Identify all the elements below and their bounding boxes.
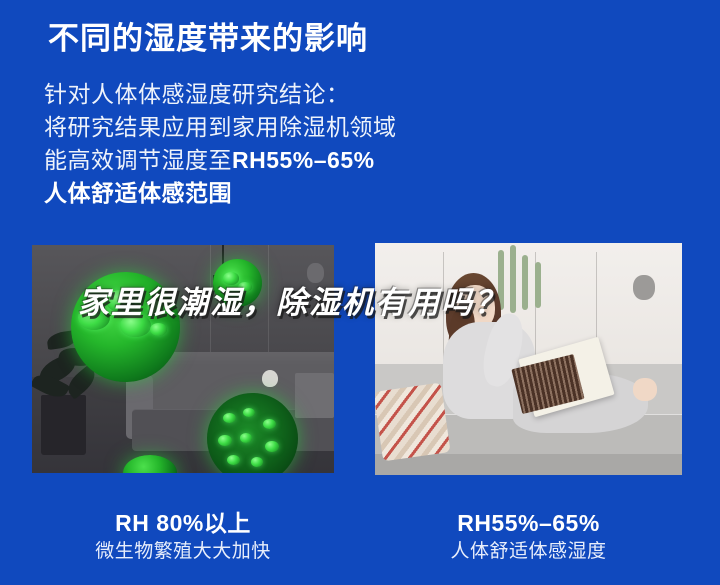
humidity-infographic-poster: 不同的湿度带来的影响 针对人体体感湿度研究结论： 将研究结果应用到家用除湿机领域… — [0, 0, 720, 585]
caption-left-subtitle: 微生物繁殖大大加快 — [32, 538, 334, 566]
germ-bump — [223, 413, 236, 423]
body-copy-line-3: 能高效调节湿度至RH55%–65% — [44, 144, 464, 177]
caption-right-title: RH55%–65% — [375, 508, 682, 538]
body-copy-line-3-text: 能高效调节湿度至 — [44, 147, 232, 173]
body-copy-line-2: 将研究结果应用到家用除湿机领域 — [44, 111, 464, 144]
overlay-question-text: 家里很潮湿，除湿机有用吗？ — [78, 277, 507, 322]
wall-decor-knob — [633, 275, 655, 300]
germ-bump — [218, 435, 232, 446]
body-copy-line-1: 针对人体体感湿度研究结论： — [44, 78, 464, 111]
germ-bump — [251, 457, 264, 467]
body-copy-line-4: 人体舒适体感范围 — [44, 177, 464, 210]
germ-bump — [243, 408, 255, 417]
germ-bump — [263, 419, 276, 429]
cactus-plant-icon — [535, 262, 541, 308]
side-table-left — [295, 373, 334, 419]
caption-left-title: RH 80%以上 — [32, 508, 334, 538]
vase-decor-left — [262, 370, 278, 387]
body-copy-block: 针对人体体感湿度研究结论： 将研究结果应用到家用除湿机领域 能高效调节湿度至RH… — [44, 78, 464, 210]
germ-bump — [240, 433, 253, 443]
sofa-base-right — [375, 454, 682, 475]
germ-cluster-bottom — [207, 393, 298, 473]
caption-block-right: RH55%–65% 人体舒适体感湿度 — [375, 508, 682, 566]
germ-bump — [150, 323, 167, 336]
page-title: 不同的湿度带来的影响 — [48, 17, 368, 61]
woman-foot — [633, 378, 658, 401]
germ-bump — [265, 441, 279, 452]
caption-block-left: RH 80%以上 微生物繁殖大大加快 — [32, 508, 334, 566]
cactus-plant-icon — [522, 255, 528, 311]
plant-pot-left — [41, 395, 86, 454]
caption-right-subtitle: 人体舒适体感湿度 — [375, 538, 682, 566]
patterned-cushion — [375, 382, 450, 460]
germ-bump — [227, 455, 240, 465]
cactus-plant-icon — [510, 245, 516, 312]
humidity-range-value: RH55%–65% — [232, 147, 375, 173]
